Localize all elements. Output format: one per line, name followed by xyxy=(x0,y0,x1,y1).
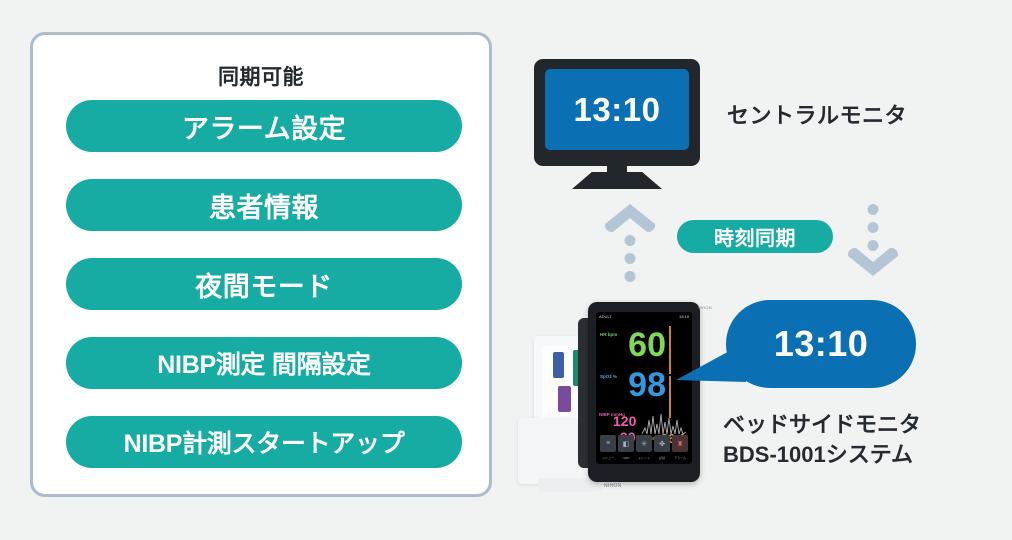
screen-clock: 13:10 xyxy=(679,314,689,319)
screen-hr-label: HR bpm xyxy=(600,332,617,337)
screen-nibp-systolic: 120 xyxy=(613,414,636,428)
time-sync-badge: 時刻同期 xyxy=(677,220,833,253)
central-monitor-label: セントラルモニタ xyxy=(727,98,907,130)
bedside-monitor-label-line2: BDS-1001システム xyxy=(723,440,921,470)
sync-item-nibp-startup[interactable]: NIBP計測スタートアップ xyxy=(66,416,462,468)
arrow-up-icon xyxy=(602,202,658,278)
screen-status-bar: ADULT 13:10 xyxy=(596,312,692,324)
chevron-up-shape xyxy=(602,202,658,232)
arrow-down-icon xyxy=(845,202,901,278)
screen-button-row: ≡ ◧ ✳ ✤ ♜ xyxy=(598,435,690,452)
screen-menu-icon[interactable]: ≡ xyxy=(600,435,616,452)
chevron-down-shape xyxy=(845,248,901,278)
dot xyxy=(868,204,879,215)
device-brand-top: NIHON xyxy=(698,305,712,310)
screen-button-label: トレンド xyxy=(636,456,652,460)
screen-patient-mode: ADULT xyxy=(599,314,612,319)
sync-item-list: アラーム設定 患者情報 夜間モード NIBP測定 間隔設定 NIBP計測スタート… xyxy=(66,100,462,468)
screen-button-labels: メニュー NIBP トレンド 記録 アラーム xyxy=(598,456,690,460)
dot xyxy=(625,253,636,264)
dot xyxy=(625,235,636,246)
screen-button-label: 記録 xyxy=(654,456,670,460)
bedside-monitor-label: ベッドサイドモニタ BDS-1001システム xyxy=(723,410,921,469)
sync-item-alarm-settings[interactable]: アラーム設定 xyxy=(66,100,462,152)
bedside-time-value: 13:10 xyxy=(774,323,869,365)
central-monitor-device: 13:10 xyxy=(534,59,700,166)
screen-waveform-ecg xyxy=(669,326,671,374)
screen-nibp-icon[interactable]: ◧ xyxy=(618,435,634,452)
screen-hr-value: 60 xyxy=(628,328,666,362)
sync-capabilities-card: 同期可能 アラーム設定 患者情報 夜間モード NIBP測定 間隔設定 NIBP計… xyxy=(30,32,492,497)
screen-spo2-value: 98 xyxy=(628,368,666,402)
bedside-time-bubble: 13:10 xyxy=(726,300,916,388)
module-connector-purple xyxy=(558,386,571,412)
infographic-stage: 同期可能 アラーム設定 患者情報 夜間モード NIBP測定 間隔設定 NIBP計… xyxy=(0,0,1012,540)
bedside-monitor-device: NIHON ADULT 13:10 HR bpm 60 SpO2 % 98 NI… xyxy=(512,288,722,493)
screen-button-label: アラーム xyxy=(672,456,688,460)
module-connector-blue xyxy=(553,352,564,378)
time-sync-label: 時刻同期 xyxy=(714,222,796,251)
central-monitor-stand xyxy=(572,172,662,189)
dot xyxy=(868,222,879,233)
screen-spo2-label: SpO2 % xyxy=(600,374,617,379)
arrow-up-dots xyxy=(625,235,636,282)
page-title: 同期可能 xyxy=(33,61,489,91)
sync-item-night-mode[interactable]: 夜間モード xyxy=(66,258,462,310)
screen-button-label: メニュー xyxy=(600,456,616,460)
screen-record-icon[interactable]: ✤ xyxy=(654,435,670,452)
sync-item-nibp-interval[interactable]: NIBP測定 間隔設定 xyxy=(66,337,462,389)
bedside-monitor-screen: ADULT 13:10 HR bpm 60 SpO2 % 98 NIBP mmH… xyxy=(596,312,692,464)
central-monitor-time: 13:10 xyxy=(574,91,661,129)
bedside-monitor-label-line1: ベッドサイドモニタ xyxy=(723,410,921,440)
sync-item-patient-info[interactable]: 患者情報 xyxy=(66,179,462,231)
screen-button-label: NIBP xyxy=(618,456,634,460)
screen-trend-icon[interactable]: ✳ xyxy=(636,435,652,452)
central-monitor-screen: 13:10 xyxy=(545,69,689,150)
screen-alarm-bell-icon[interactable]: ♜ xyxy=(672,435,688,452)
dot xyxy=(625,271,636,282)
device-brand-bottom: NIHON xyxy=(604,483,622,489)
arrow-down-dots xyxy=(868,204,879,251)
